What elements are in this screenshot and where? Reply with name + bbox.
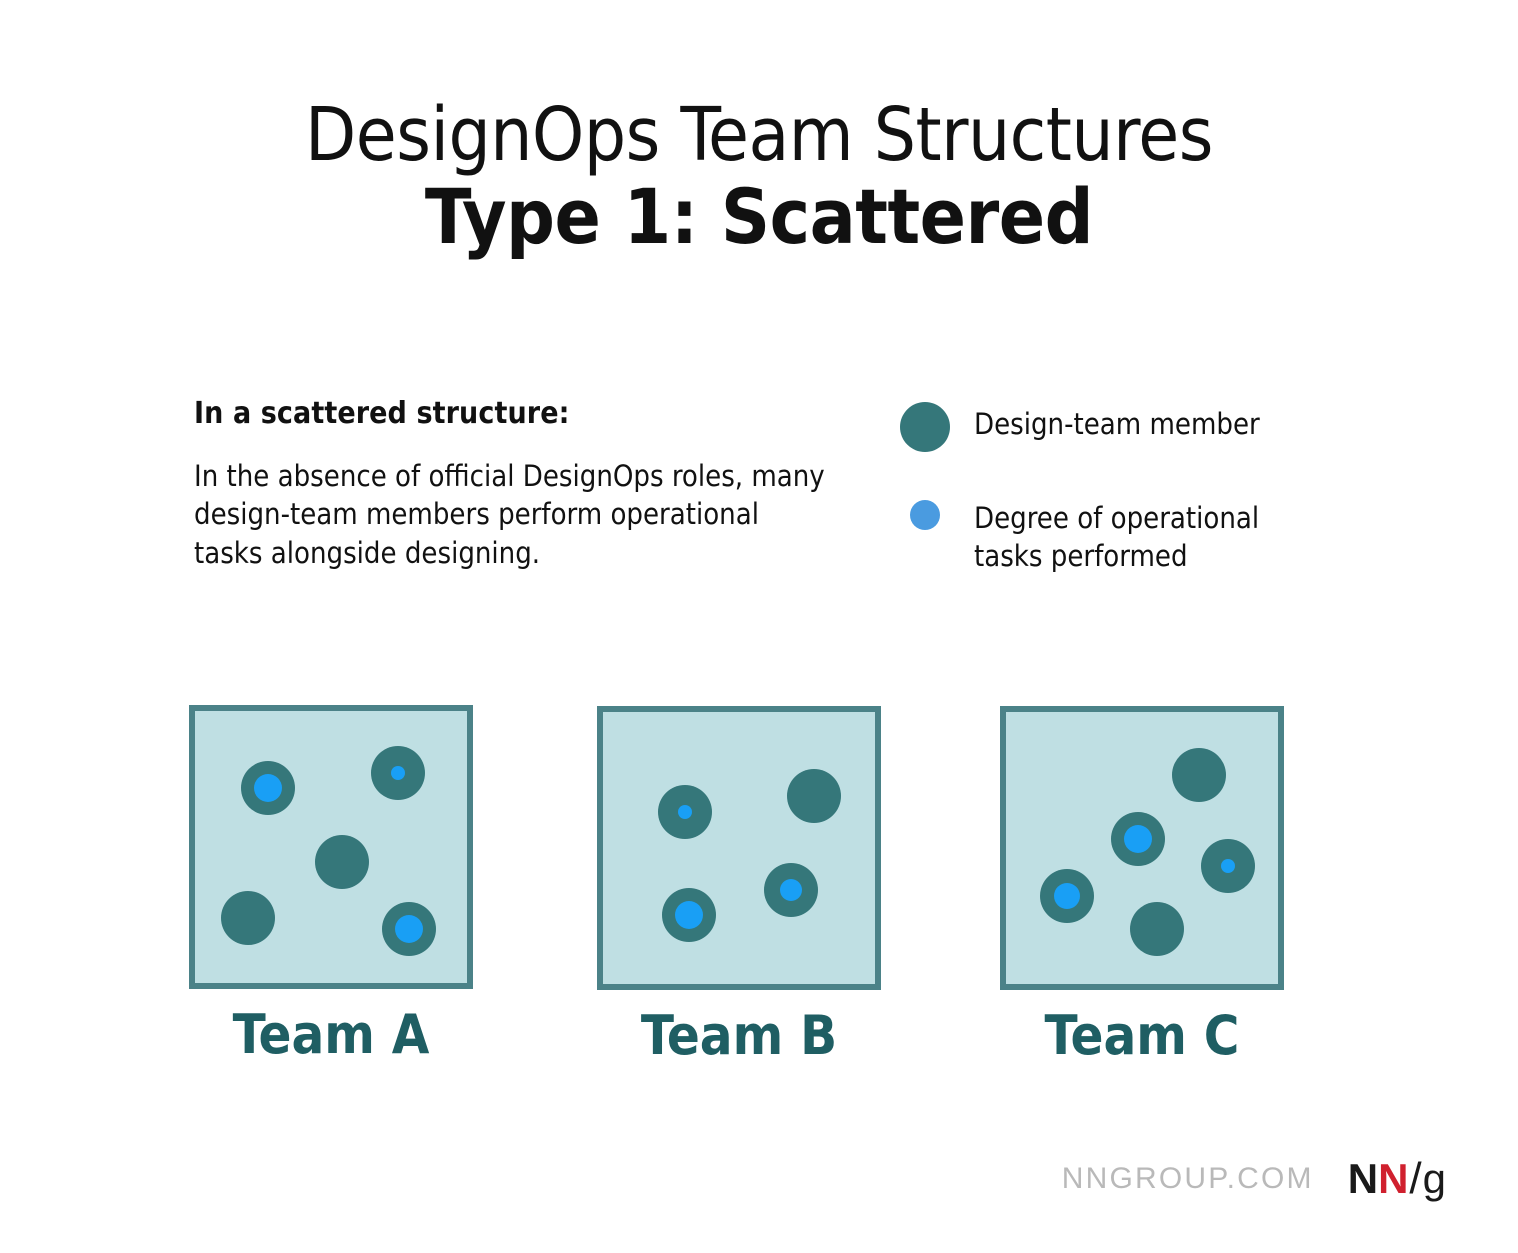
blue-dot-icon — [910, 500, 940, 530]
legend-label: Degree of operational tasks performed — [974, 492, 1330, 575]
legend-swatch-wrap — [900, 398, 974, 452]
logo-letter-g: g — [1423, 1158, 1446, 1200]
design-team-member-circle — [315, 835, 369, 889]
description-heading: In a scattered structure: — [194, 396, 834, 431]
team-box-team-b — [597, 706, 881, 990]
team-label-team-a: Team A — [189, 1003, 473, 1066]
legend: Design-team member Degree of operational… — [900, 398, 1330, 615]
diagram-canvas: DesignOps Team Structures Type 1: Scatte… — [0, 0, 1518, 1253]
operational-tasks-dot — [395, 915, 423, 943]
operational-tasks-dot — [1124, 825, 1152, 853]
design-team-member-circle — [371, 746, 425, 800]
legend-swatch-wrap — [900, 492, 974, 530]
footer: NNGROUP.COM NN/g — [1062, 1157, 1446, 1201]
operational-tasks-dot — [1054, 883, 1080, 909]
nng-logo: NN/g — [1348, 1157, 1446, 1201]
design-team-member-circle — [662, 888, 716, 942]
legend-item-design-team-member: Design-team member — [900, 398, 1330, 452]
operational-tasks-dot — [678, 805, 692, 819]
design-team-member-circle — [658, 785, 712, 839]
design-team-member-circle — [764, 863, 818, 917]
title-block: DesignOps Team Structures Type 1: Scatte… — [0, 98, 1518, 262]
teal-dot-icon — [900, 402, 950, 452]
operational-tasks-dot — [391, 766, 405, 780]
team-box-team-a — [189, 705, 473, 989]
design-team-member-circle — [1040, 869, 1094, 923]
legend-label: Design-team member — [974, 398, 1260, 444]
design-team-member-circle — [1130, 902, 1184, 956]
logo-letter-n2: N — [1378, 1158, 1408, 1200]
team-box-team-c — [1000, 706, 1284, 990]
team-label-team-c: Team C — [1000, 1004, 1284, 1067]
description-body: In the absence of official DesignOps rol… — [194, 457, 834, 572]
operational-tasks-dot — [1221, 859, 1235, 873]
design-team-member-circle — [1201, 839, 1255, 893]
footer-site-url: NNGROUP.COM — [1062, 1162, 1314, 1196]
page-subtitle: Type 1: Scattered — [0, 172, 1518, 262]
design-team-member-circle — [787, 769, 841, 823]
design-team-member-circle — [241, 761, 295, 815]
legend-item-operational-tasks: Degree of operational tasks performed — [900, 492, 1330, 575]
operational-tasks-dot — [675, 901, 703, 929]
design-team-member-circle — [1172, 748, 1226, 802]
operational-tasks-dot — [780, 879, 802, 901]
team-label-team-b: Team B — [597, 1004, 881, 1067]
design-team-member-circle — [1111, 812, 1165, 866]
description-block: In a scattered structure: In the absence… — [194, 396, 834, 572]
logo-slash: / — [1408, 1157, 1422, 1201]
operational-tasks-dot — [254, 774, 282, 802]
logo-letter-n1: N — [1348, 1158, 1378, 1200]
design-team-member-circle — [382, 902, 436, 956]
design-team-member-circle — [221, 891, 275, 945]
page-title: DesignOps Team Structures — [0, 98, 1518, 172]
